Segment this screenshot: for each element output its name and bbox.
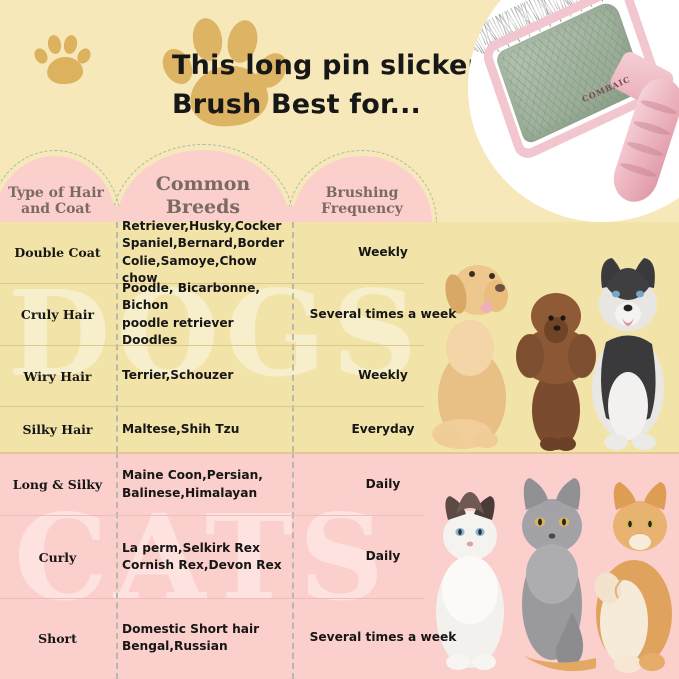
cell-breeds: Retriever,Husky,Cocker Spaniel,Bernard,B… — [122, 222, 290, 283]
title-line-1: This long pin slicker — [172, 50, 481, 81]
cell-coat-type: Short — [0, 599, 115, 677]
breeds-text: Maltese,Shih Tzu — [122, 421, 239, 438]
header-line-1: Common — [117, 173, 289, 195]
breeds-text: Poodle, Bicarbonne, Bichon poodle retrie… — [122, 280, 290, 349]
frequency-text: Everyday — [351, 422, 414, 438]
cell-frequency: Daily — [298, 516, 468, 598]
table-row: Wiry Hair Terrier,Schouzer Weekly — [0, 346, 679, 406]
header-line-2: and Coat — [0, 201, 116, 218]
breeds-text: La perm,Selkirk Rex Cornish Rex,Devon Re… — [122, 540, 282, 575]
header-line-1: Brushing — [292, 185, 432, 202]
cell-breeds: Poodle, Bicarbonne, Bichon poodle retrie… — [122, 284, 290, 345]
frequency-text: Daily — [366, 549, 401, 565]
cell-frequency: Everyday — [298, 407, 468, 452]
frequency-text: Several times a week — [310, 307, 457, 323]
header-line-1: Type of Hair — [0, 185, 116, 202]
cell-breeds: Maine Coon,Persian, Balinese,Himalayan — [122, 454, 290, 515]
cell-frequency: Daily — [298, 454, 468, 515]
breeds-text: Domestic Short hair Bengal,Russian — [122, 621, 259, 656]
coat-type-text: Short — [38, 631, 77, 646]
paw-print-icon — [33, 28, 95, 86]
table-row: Cruly Hair Poodle, Bicarbonne, Bichon po… — [0, 284, 679, 345]
table-row: Silky Hair Maltese,Shih Tzu Everyday — [0, 407, 679, 452]
table-row: Curly La perm,Selkirk Rex Cornish Rex,De… — [0, 516, 679, 598]
cell-coat-type: Double Coat — [0, 222, 115, 283]
breeds-text: Retriever,Husky,Cocker Spaniel,Bernard,B… — [122, 218, 290, 287]
cell-frequency: Several times a week — [298, 599, 468, 677]
infographic-page: This long pin slicker Brush Best for... … — [0, 0, 679, 679]
frequency-text: Weekly — [358, 245, 408, 261]
coat-type-text: Cruly Hair — [21, 307, 94, 322]
cell-coat-type: Curly — [0, 516, 115, 598]
column-header-common-breeds: Common Breeds — [117, 173, 289, 218]
cell-frequency: Weekly — [298, 222, 468, 283]
table-row: Short Domestic Short hair Bengal,Russian… — [0, 599, 679, 677]
cell-coat-type: Long & Silky — [0, 454, 115, 515]
coat-type-text: Double Coat — [14, 245, 100, 260]
cell-coat-type: Cruly Hair — [0, 284, 115, 345]
cell-breeds: Maltese,Shih Tzu — [122, 407, 290, 452]
cell-coat-type: Silky Hair — [0, 407, 115, 452]
slicker-brush-photo: COMBAIC — [468, 0, 679, 222]
coat-type-text: Silky Hair — [22, 422, 92, 437]
cell-breeds: La perm,Selkirk Rex Cornish Rex,Devon Re… — [122, 516, 290, 598]
frequency-text: Daily — [366, 477, 401, 493]
coat-type-text: Curly — [39, 550, 77, 565]
cell-frequency: Several times a week — [298, 284, 468, 345]
column-header-brushing-frequency: Brushing Frequency — [292, 185, 432, 218]
column-header-coat-type: Type of Hair and Coat — [0, 185, 116, 218]
cell-coat-type: Wiry Hair — [0, 346, 115, 406]
header-line-2: Breeds — [117, 196, 289, 218]
frequency-text: Weekly — [358, 368, 408, 384]
frequency-text: Several times a week — [310, 630, 457, 646]
title-line-2: Brush Best for... — [172, 85, 492, 124]
breeds-text: Terrier,Schouzer — [122, 367, 233, 384]
cell-breeds: Domestic Short hair Bengal,Russian — [122, 599, 290, 677]
table-header: Type of Hair and Coat Common Breeds Brus… — [0, 150, 424, 222]
cell-breeds: Terrier,Schouzer — [122, 346, 290, 406]
coat-type-text: Long & Silky — [13, 477, 102, 492]
header-line-2: Frequency — [292, 201, 432, 218]
page-title: This long pin slicker Brush Best for... — [172, 46, 492, 124]
cell-frequency: Weekly — [298, 346, 468, 406]
coat-type-text: Wiry Hair — [23, 369, 91, 384]
table-row: Long & Silky Maine Coon,Persian, Balines… — [0, 454, 679, 515]
breeds-text: Maine Coon,Persian, Balinese,Himalayan — [122, 467, 263, 502]
table-row: Double Coat Retriever,Husky,Cocker Spani… — [0, 222, 679, 283]
